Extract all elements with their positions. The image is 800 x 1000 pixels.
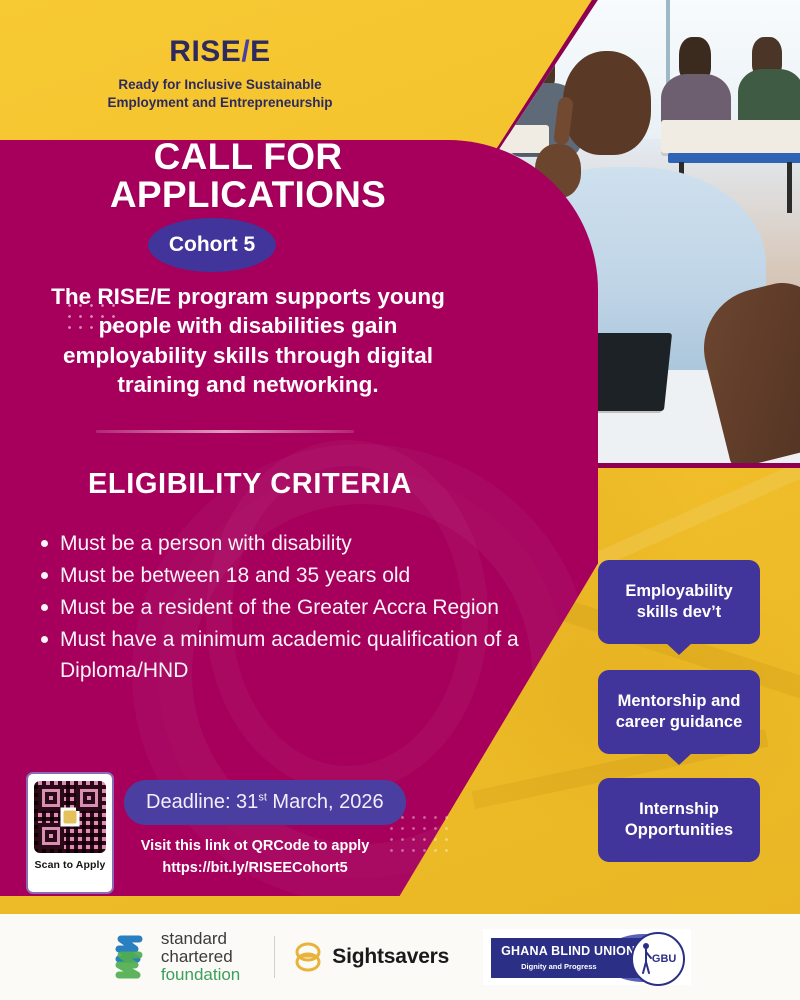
benefit-badge-employability: Employability skills dev’t	[598, 560, 760, 644]
eligibility-list: Must be a person with disability Must be…	[18, 528, 560, 687]
photo-table	[661, 120, 800, 152]
cohort-badge-label: Cohort 5	[169, 233, 255, 257]
sightsavers-rings-icon	[293, 940, 323, 974]
benefit-badge-line1: Employability	[625, 581, 732, 602]
scf-line2: chartered	[161, 948, 240, 966]
logo-standard-chartered-foundation: standard chartered foundation	[109, 930, 240, 984]
brand-tagline-line2: Employment and Entrepreneurship	[0, 94, 440, 112]
brand-header: RISE/E Ready for Inclusive Sustainable E…	[0, 36, 440, 112]
qr-finder-pattern	[38, 823, 64, 849]
list-item: Must be between 18 and 35 years old	[40, 560, 560, 591]
badge-pointer-icon	[666, 643, 692, 655]
qr-code-caption: Scan to Apply	[35, 859, 106, 871]
brand-logotype: RISE/E	[0, 36, 440, 68]
headline-line2: APPLICATIONS	[28, 176, 468, 214]
gbu-title: GHANA BLIND UNION	[501, 944, 635, 958]
page-title: CALL FOR APPLICATIONS	[28, 138, 468, 215]
apply-link[interactable]: https://bit.ly/RISEECohort5	[110, 858, 400, 880]
scf-line1: standard	[161, 930, 240, 948]
list-item: Must have a minimum academic qualificati…	[40, 624, 560, 686]
qr-code-card[interactable]: Scan to Apply	[26, 772, 114, 894]
brand-tagline: Ready for Inclusive Sustainable Employme…	[0, 76, 440, 112]
deadline-ordinal-suffix: st	[258, 791, 267, 803]
benefit-badge-line2: Opportunities	[625, 820, 733, 841]
benefit-badge-mentorship: Mentorship and career guidance	[598, 670, 760, 754]
qr-center-logo	[61, 808, 80, 827]
scf-line3: foundation	[161, 966, 240, 984]
benefit-badge-line1: Internship	[625, 799, 733, 820]
gbu-emblem: GBU	[631, 932, 685, 986]
badge-pointer-icon	[666, 753, 692, 765]
qr-code-icon[interactable]	[34, 781, 106, 853]
section-divider	[96, 430, 354, 433]
photo-table-frame	[668, 153, 800, 163]
partner-logos-footer: standard chartered foundation Sightsaver…	[0, 914, 800, 1000]
logo-ghana-blind-union: GHANA BLIND UNION Dignity and Progress G…	[483, 929, 691, 985]
gbu-abbreviation: GBU	[652, 953, 676, 965]
gbu-person-with-cane-icon	[640, 942, 654, 974]
standard-chartered-chevron-icon	[109, 935, 151, 979]
list-item: Must be a person with disability	[40, 528, 560, 559]
poster-canvas: RISE/E Ready for Inclusive Sustainable E…	[0, 0, 800, 1000]
cohort-badge: Cohort 5	[148, 218, 276, 272]
photo-person-head	[563, 51, 651, 155]
apply-instructions: Visit this link ot QRCode to apply https…	[110, 836, 400, 880]
brand-tagline-line1: Ready for Inclusive Sustainable	[0, 76, 440, 94]
list-item: Must be a resident of the Greater Accra …	[40, 592, 560, 623]
benefit-badge-line1: Mentorship and	[616, 691, 743, 712]
apply-instructions-line1: Visit this link ot QRCode to apply	[110, 836, 400, 858]
standard-chartered-wordmark: standard chartered foundation	[161, 930, 240, 984]
deadline-prefix: Deadline: 31	[146, 791, 258, 813]
logo-sightsavers: Sightsavers	[293, 940, 449, 974]
benefit-badge-line2: career guidance	[616, 712, 743, 733]
brand-name-slash: /	[241, 35, 250, 68]
gbu-tagline: Dignity and Progress	[521, 962, 596, 971]
headline-line1: CALL FOR	[28, 138, 468, 176]
sightsavers-wordmark: Sightsavers	[332, 945, 449, 969]
benefit-badge-internship: Internship Opportunities	[598, 778, 760, 862]
logo-divider	[274, 936, 275, 978]
program-description: The RISE/E program supports young people…	[26, 282, 470, 399]
brand-name-part2: E	[250, 35, 271, 68]
eligibility-title: ELIGIBILITY CRITERIA	[30, 468, 470, 501]
deadline-badge: Deadline: 31st March, 2026	[124, 780, 406, 825]
photo-table-leg	[787, 162, 792, 213]
deadline-suffix: March, 2026	[267, 791, 384, 813]
benefit-badge-line2: skills dev’t	[625, 602, 732, 623]
brand-name-part1: RISE	[169, 35, 241, 68]
